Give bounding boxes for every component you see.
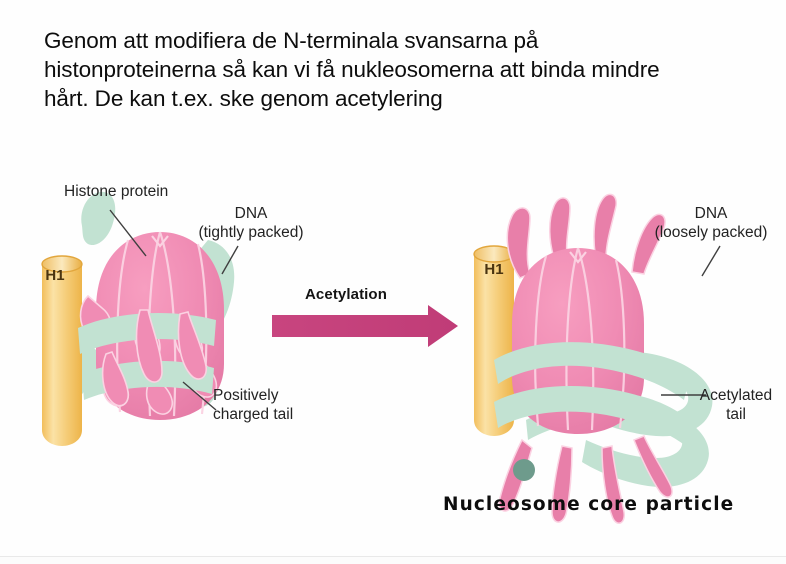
- label-histone-protein: Histone protein: [64, 182, 168, 201]
- dna-end-cap-right: [513, 459, 535, 481]
- nucleosome-acetylation-figure: H1: [0, 148, 786, 548]
- nucleosome-core-particle-caption: Nucleosome core particle: [443, 494, 734, 515]
- label-acetylated-tail: Acetylated tail: [686, 386, 786, 424]
- slide-title: Genom att modifiera de N-terminala svans…: [44, 26, 760, 113]
- acetylation-label: Acetylation: [305, 286, 387, 303]
- svg-text:H1: H1: [484, 261, 503, 278]
- label-dna-loosely-packed: DNA (loosely packed): [636, 204, 786, 242]
- leader-dna-loose: [702, 246, 720, 276]
- label-dna-tightly-packed: DNA (tightly packed): [180, 204, 322, 242]
- bottom-divider: [0, 556, 786, 557]
- svg-text:H1: H1: [45, 267, 64, 284]
- right-nucleosome-graphic: H1: [474, 194, 712, 523]
- acetylation-arrow-icon: [272, 305, 458, 347]
- h1-cylinder-left: H1: [42, 256, 82, 446]
- bottom-strip: [0, 557, 786, 564]
- label-positively-charged-tail: Positively charged tail: [213, 386, 293, 424]
